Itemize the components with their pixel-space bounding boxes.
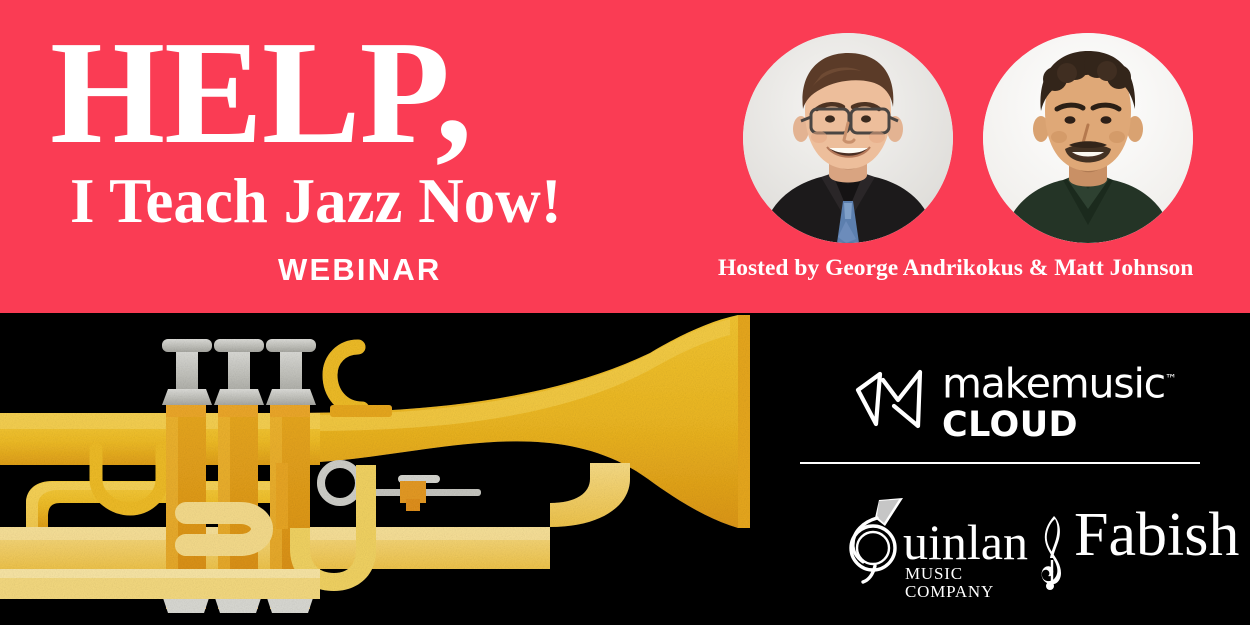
page-title: HELP, (50, 18, 690, 168)
trumpet-illustration (0, 313, 790, 625)
trademark-symbol: ™ (1165, 372, 1177, 386)
host-2-portrait (983, 33, 1193, 243)
title-block: HELP, I Teach Jazz Now! WEBINAR (50, 18, 690, 288)
makemusic-product-name: CLOUD (942, 406, 1177, 444)
trumpet-graphic (0, 313, 790, 625)
event-type-label: WEBINAR (50, 234, 690, 288)
page-subtitle: I Teach Jazz Now! (50, 168, 690, 234)
makemusic-cloud-logo: makemusic™ CLOUD (850, 358, 1177, 444)
makemusic-wordmark-block: makemusic™ CLOUD (942, 358, 1177, 444)
makemusic-word: makemusic (942, 360, 1165, 408)
quinlan-fabish-text-block: uinlan MUSIC COMPANY Fabish (903, 518, 1239, 601)
french-horn-q-icon (845, 496, 907, 584)
quinlan-name-column: uinlan MUSIC COMPANY (903, 518, 1028, 601)
hosts-credit-line: Hosted by George Andrikokus & Matt Johns… (718, 255, 1238, 282)
avatar-host-2 (983, 33, 1193, 243)
treble-clef-ampersand-icon (1036, 512, 1070, 592)
fabish-wordmark: Fabish (1074, 506, 1239, 564)
quinlan-fabish-logo: uinlan MUSIC COMPANY Fabish (845, 492, 1239, 601)
makemusic-wordmark: makemusic™ (942, 358, 1177, 405)
quinlan-tagline: MUSIC COMPANY (905, 565, 1028, 601)
sponsor-logo-column: makemusic™ CLOUD ui (795, 330, 1215, 610)
webinar-promo-banner: HELP, I Teach Jazz Now! WEBINAR (0, 0, 1250, 625)
quinlan-wordmark: uinlan (903, 518, 1028, 566)
logo-divider (800, 462, 1200, 464)
avatar-host-1 (743, 33, 953, 243)
host-1-portrait (743, 33, 953, 243)
makemusic-chevron-mark-icon (850, 366, 928, 436)
